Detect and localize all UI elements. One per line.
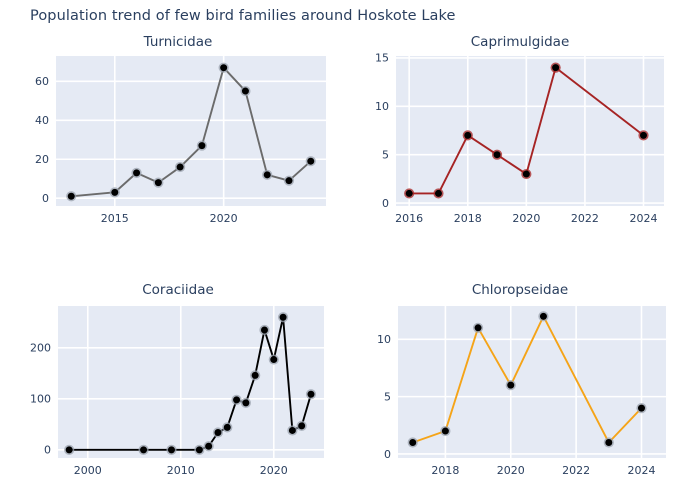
plot-background — [398, 306, 666, 458]
data-marker[interactable] — [605, 439, 612, 446]
data-marker[interactable] — [177, 164, 184, 171]
data-marker[interactable] — [507, 382, 514, 389]
data-marker[interactable] — [270, 356, 277, 363]
subplot-caprimulgidae: Caprimulgidae 05101520162018202020222024 — [360, 34, 680, 224]
figure-title: Population trend of few bird families ar… — [30, 8, 456, 24]
x-axis-tick-label: 2022 — [562, 464, 590, 477]
x-axis-tick-label: 2024 — [627, 464, 655, 477]
y-axis-tick-label: 20 — [35, 153, 49, 166]
x-axis-tick-label: 2022 — [571, 212, 599, 224]
x-axis-tick-label: 2018 — [431, 464, 459, 477]
data-marker[interactable] — [285, 177, 292, 184]
y-axis-tick-label: 10 — [377, 333, 391, 346]
data-marker[interactable] — [242, 88, 249, 95]
y-axis-tick-label: 15 — [375, 52, 389, 65]
plot-area-coraciidae: 0100200200020102020 — [18, 282, 338, 477]
data-marker[interactable] — [198, 142, 205, 149]
data-marker[interactable] — [475, 324, 482, 331]
plot-area-chloropseidae: 05102018202020222024 — [360, 282, 680, 477]
x-axis-tick-label: 2000 — [74, 464, 102, 477]
data-marker[interactable] — [140, 446, 147, 453]
subplot-coraciidae: Coraciidae 0100200200020102020 — [18, 282, 338, 477]
x-axis-tick-label: 2020 — [210, 212, 238, 224]
plot-area-caprimulgidae: 05101520162018202020222024 — [360, 34, 680, 224]
data-marker[interactable] — [264, 171, 271, 178]
data-marker[interactable] — [205, 443, 212, 450]
data-marker[interactable] — [638, 405, 645, 412]
x-axis-tick-label: 2018 — [454, 212, 482, 224]
data-marker[interactable] — [155, 179, 162, 186]
subplot-chloropseidae: Chloropseidae 05102018202020222024 — [360, 282, 680, 477]
data-marker[interactable] — [261, 326, 268, 333]
plot-area-turnicidae: 020406020152020 — [18, 34, 338, 224]
y-axis-tick-label: 200 — [30, 342, 51, 355]
x-axis-tick-label: 2015 — [101, 212, 129, 224]
subplot-turnicidae: Turnicidae 020406020152020 — [18, 34, 338, 224]
data-marker[interactable] — [233, 396, 240, 403]
y-axis-tick-label: 5 — [382, 149, 389, 162]
data-marker[interactable] — [307, 391, 314, 398]
data-marker[interactable] — [494, 151, 501, 158]
data-marker[interactable] — [196, 446, 203, 453]
y-axis-tick-label: 60 — [35, 75, 49, 88]
data-marker[interactable] — [409, 439, 416, 446]
x-axis-tick-label: 2016 — [395, 212, 423, 224]
data-marker[interactable] — [66, 446, 73, 453]
data-marker[interactable] — [214, 429, 221, 436]
data-marker[interactable] — [133, 169, 140, 176]
x-axis-tick-label: 2010 — [167, 464, 195, 477]
y-axis-tick-label: 10 — [375, 100, 389, 113]
x-axis-tick-label: 2024 — [629, 212, 657, 224]
data-marker[interactable] — [640, 132, 647, 139]
data-marker[interactable] — [298, 422, 305, 429]
data-marker[interactable] — [307, 158, 314, 165]
y-axis-tick-label: 0 — [384, 448, 391, 461]
y-axis-tick-label: 0 — [42, 192, 49, 205]
data-marker[interactable] — [442, 428, 449, 435]
data-marker[interactable] — [220, 64, 227, 71]
data-marker[interactable] — [435, 190, 442, 197]
data-marker[interactable] — [280, 314, 287, 321]
data-marker[interactable] — [289, 427, 296, 434]
data-marker[interactable] — [406, 190, 413, 197]
data-marker[interactable] — [252, 372, 259, 379]
x-axis-tick-label: 2020 — [512, 212, 540, 224]
figure-canvas: Population trend of few bird families ar… — [0, 0, 700, 500]
y-axis-tick-label: 0 — [382, 197, 389, 210]
y-axis-tick-label: 0 — [44, 444, 51, 457]
data-marker[interactable] — [224, 424, 231, 431]
data-marker[interactable] — [68, 193, 75, 200]
data-marker[interactable] — [540, 313, 547, 320]
y-axis-tick-label: 40 — [35, 114, 49, 127]
data-marker[interactable] — [111, 189, 118, 196]
y-axis-tick-label: 5 — [384, 390, 391, 403]
data-marker[interactable] — [552, 64, 559, 71]
data-marker[interactable] — [168, 446, 175, 453]
y-axis-tick-label: 100 — [30, 393, 51, 406]
plot-background — [396, 56, 664, 206]
x-axis-tick-label: 2020 — [497, 464, 525, 477]
data-marker[interactable] — [523, 171, 530, 178]
data-marker[interactable] — [464, 132, 471, 139]
x-axis-tick-label: 2020 — [260, 464, 288, 477]
data-marker[interactable] — [242, 399, 249, 406]
